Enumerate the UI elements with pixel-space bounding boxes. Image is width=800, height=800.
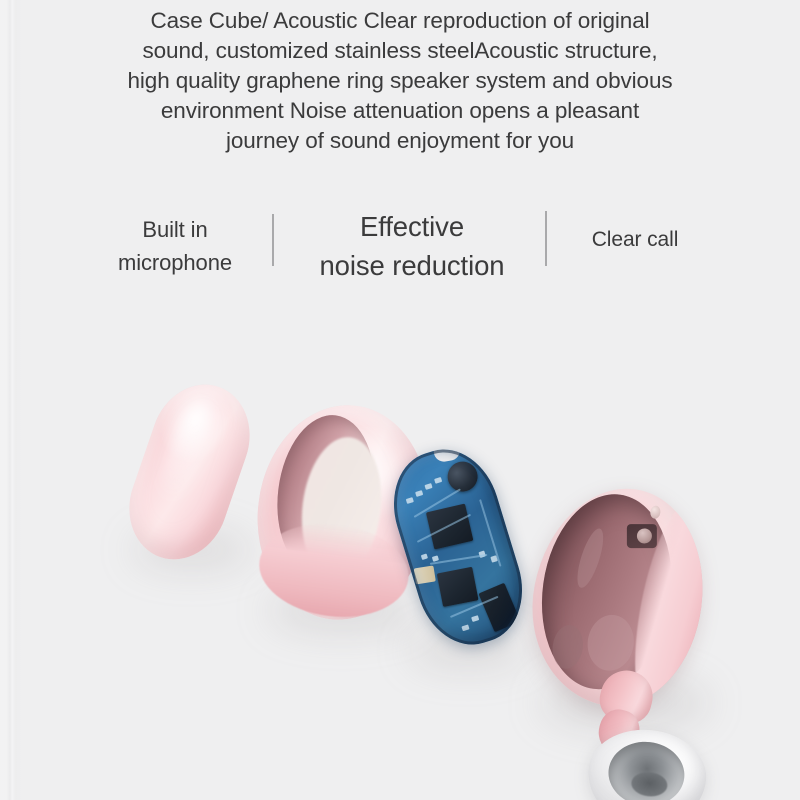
exploded-product-render <box>0 330 800 800</box>
product-description-text: Case Cube/ Acoustic Clear reproduction o… <box>70 6 730 156</box>
cap-highlight <box>152 395 218 504</box>
cavity-detail <box>550 623 586 671</box>
product-feature-image: Case Cube/ Acoustic Clear reproduction o… <box>0 0 800 800</box>
feature-divider-2 <box>545 211 547 266</box>
ear-tip-bore-deep <box>630 770 668 798</box>
ear-tip-bore <box>605 738 687 800</box>
feature-divider-1 <box>272 214 274 266</box>
feature-built-in-microphone: Built in microphone <box>95 213 255 279</box>
cavity-detail <box>584 612 637 674</box>
feature-effective-noise-reduction: Effective noise reduction <box>292 207 532 285</box>
cavity-pin <box>649 505 661 519</box>
feature-clear-call: Clear call <box>565 225 705 255</box>
feature-highlights-row: Built in microphone Effective noise redu… <box>0 205 800 285</box>
cavity-detail <box>572 526 608 591</box>
